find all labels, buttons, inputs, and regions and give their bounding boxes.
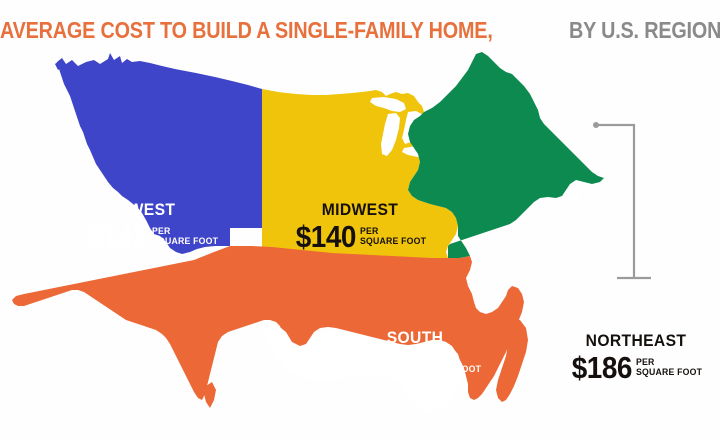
- map-region-west[interactable]: [57, 53, 262, 254]
- title-secondary: BY U.S. REGION: [569, 17, 720, 44]
- page-title: AVERAGE COST TO BUILD A SINGLE-FAMILY HO…: [0, 17, 720, 44]
- title-primary: AVERAGE COST TO BUILD A SINGLE-FAMILY HO…: [0, 17, 493, 44]
- us-region-map: WEST $142 PER SQUARE FOOT MIDWEST $140 P…: [0, 50, 720, 439]
- us-map-svg: [0, 50, 720, 439]
- infographic-page: AVERAGE COST TO BUILD A SINGLE-FAMILY HO…: [0, 0, 720, 439]
